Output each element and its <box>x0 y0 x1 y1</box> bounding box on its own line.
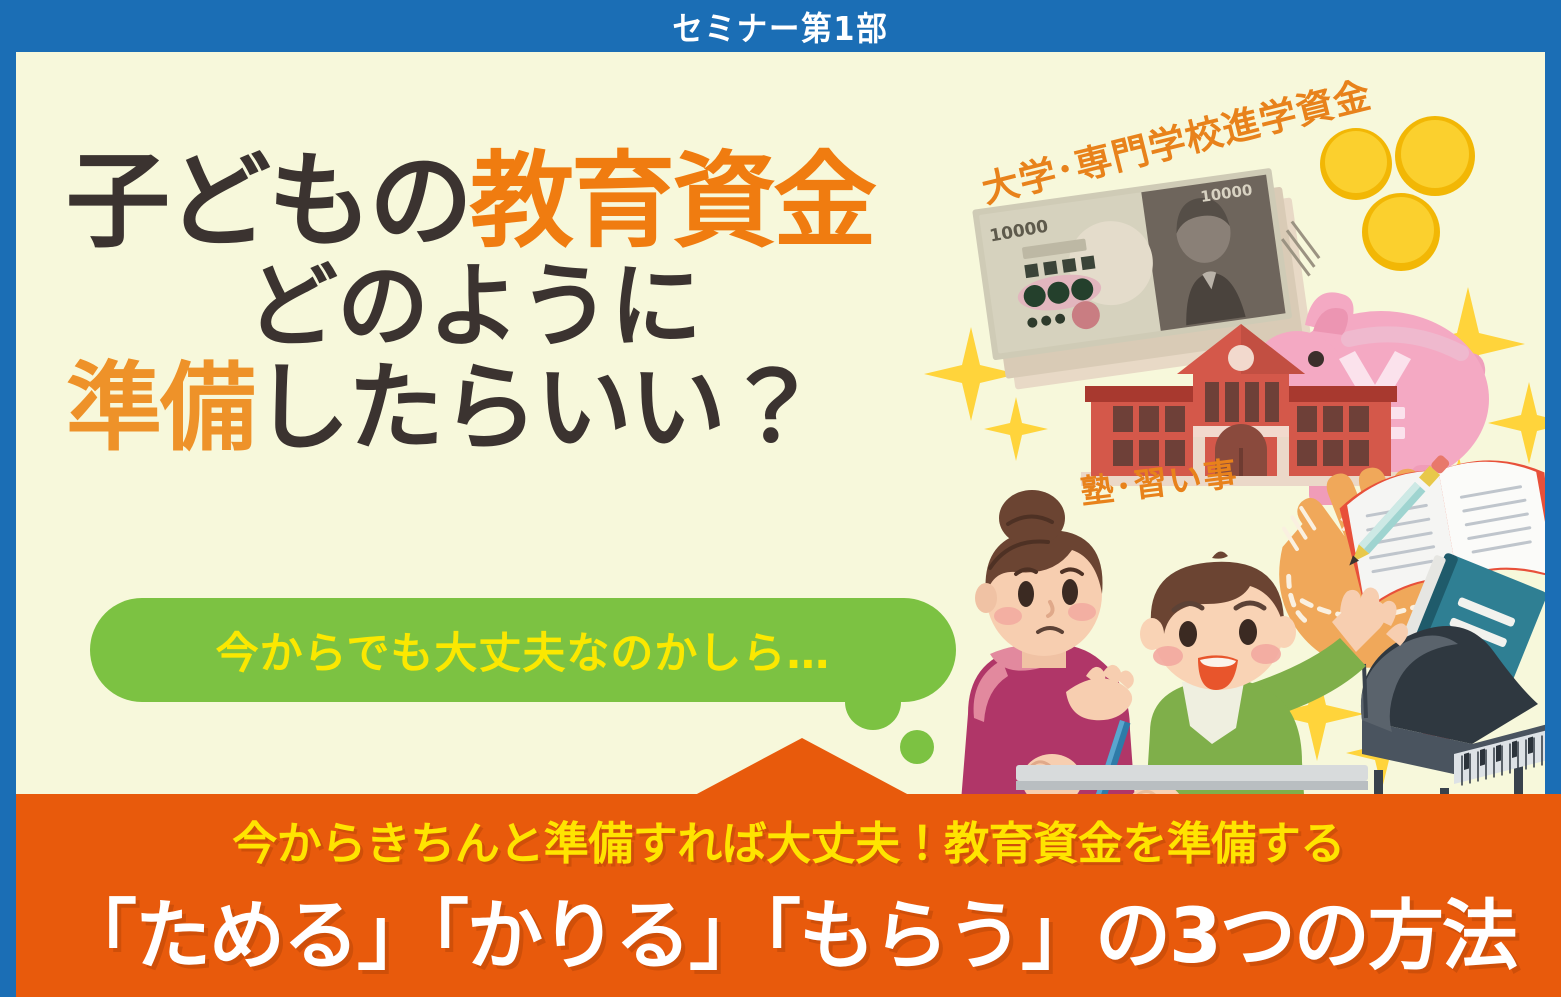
header-title: セミナー第1部 <box>672 2 888 50</box>
coin-icon <box>1320 116 1475 271</box>
headline-line-3: 準備したらいい？ <box>66 359 986 459</box>
desk-icon <box>1016 765 1368 790</box>
headline-line-3-dark: したらいい？ <box>254 352 818 464</box>
banner-line-2: 「ためる」「かりる」「もらう」の3つの方法 <box>61 874 1516 984</box>
banner-line-1: 今からきちんと準備すれば大丈夫！教育資金を準備する <box>232 807 1345 872</box>
headline-line-2: どのように <box>246 259 986 355</box>
speech-bubble-text: 今からでも大丈夫なのかしら… <box>216 619 831 681</box>
seminar-poster: セミナー第1部 <box>0 0 1561 997</box>
headline-line-3-orange: 準備 <box>66 352 254 464</box>
headline-block: 子どもの教育資金 どのように 準備したらいい？ <box>66 147 986 459</box>
speech-bubble-tail <box>845 674 901 730</box>
speech-bubble: 今からでも大丈夫なのかしら… <box>90 598 956 702</box>
orange-arrow-pointer <box>695 738 909 794</box>
speech-bubble-group: 今からでも大丈夫なのかしら… <box>90 598 956 702</box>
bottom-banner: 今からきちんと準備すれば大丈夫！教育資金を準備する 「ためる」「かりる」「もらう… <box>16 794 1561 997</box>
headline-line-1-dark: 子どもの <box>66 140 470 262</box>
header-bar: セミナー第1部 <box>0 0 1561 52</box>
headline-line-1-orange: 教育資金 <box>470 140 874 262</box>
content-stage: 10000 10000 <box>16 52 1545 794</box>
mother-figure-icon <box>960 490 1136 794</box>
headline-line-1: 子どもの教育資金 <box>66 147 986 255</box>
